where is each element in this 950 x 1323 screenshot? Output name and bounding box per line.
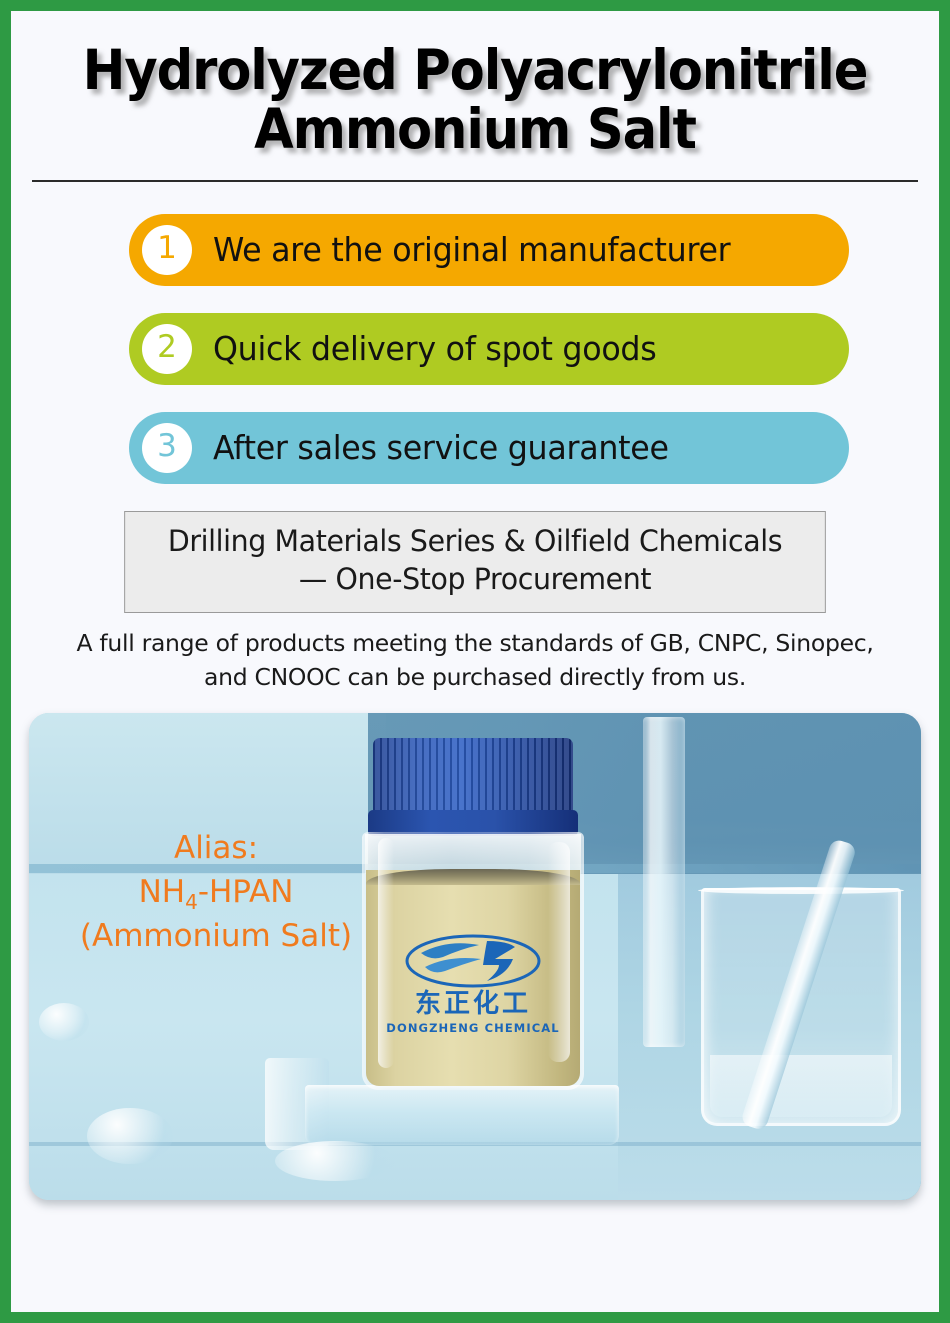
alias-note: (Ammonium Salt) xyxy=(51,914,381,958)
glass-beaker xyxy=(701,888,901,1126)
poster-inner: Hydrolyzed Polyacrylonitrile Ammonium Sa… xyxy=(11,11,939,1312)
glass-droplet-icon xyxy=(87,1108,173,1164)
feature-label-1: We are the original manufacturer xyxy=(213,230,730,269)
brand-name-english: DONGZHENG CHEMICAL xyxy=(362,1021,584,1035)
feature-label-3: After sales service guarantee xyxy=(213,428,669,467)
glass-droplet-icon xyxy=(39,1003,89,1041)
feature-number-2: 2 xyxy=(157,332,177,363)
title-block: Hydrolyzed Polyacrylonitrile Ammonium Sa… xyxy=(11,11,939,160)
feature-number-badge-1: 1 xyxy=(142,225,192,275)
poster-frame: Hydrolyzed Polyacrylonitrile Ammonium Sa… xyxy=(0,0,950,1323)
beaker-rim xyxy=(698,887,904,894)
feature-item-2[interactable]: 2 Quick delivery of spot goods xyxy=(129,313,849,385)
statement-box: Drilling Materials Series & Oilfield Che… xyxy=(124,511,826,614)
brand-logo: 东正化工 DONGZHENG CHEMICAL xyxy=(362,933,584,1035)
alias-label: Alias: xyxy=(51,826,381,870)
subnote-text: A full range of products meeting the sta… xyxy=(71,627,879,694)
feature-number-1: 1 xyxy=(157,233,177,264)
brand-name-chinese: 东正化工 xyxy=(362,990,584,1019)
statement-line-2: — One-Stop Procurement xyxy=(139,560,811,598)
glass-cylinder xyxy=(643,717,685,1047)
feature-label-2: Quick delivery of spot goods xyxy=(213,329,656,368)
alias-formula: NH4-HPAN xyxy=(51,870,381,914)
acrylic-riser-block xyxy=(305,1085,619,1145)
alias-formula-pre: NH xyxy=(139,874,186,910)
alias-formula-post: -HPAN xyxy=(198,874,294,910)
feature-number-badge-2: 2 xyxy=(142,324,192,374)
feature-number-3: 3 xyxy=(157,431,177,462)
alias-caption: Alias: NH4-HPAN (Ammonium Salt) xyxy=(51,826,381,958)
title-divider xyxy=(32,180,918,182)
product-photo: Alias: NH4-HPAN (Ammonium Salt) xyxy=(29,713,921,1200)
product-jar: 东正化工 DONGZHENG CHEMICAL xyxy=(362,738,584,1090)
statement-line-1: Drilling Materials Series & Oilfield Che… xyxy=(139,522,811,560)
page-title: Hydrolyzed Polyacrylonitrile Ammonium Sa… xyxy=(70,41,881,160)
glass-droplet-icon xyxy=(275,1141,395,1181)
beaker-liquid xyxy=(710,1055,892,1117)
feature-list: 1 We are the original manufacturer 2 Qui… xyxy=(11,214,939,484)
feature-item-3[interactable]: 3 After sales service guarantee xyxy=(129,412,849,484)
dongzheng-logo-icon xyxy=(403,933,543,989)
feature-item-1[interactable]: 1 We are the original manufacturer xyxy=(129,214,849,286)
alias-formula-subscript: 4 xyxy=(185,890,198,914)
feature-number-badge-3: 3 xyxy=(142,423,192,473)
